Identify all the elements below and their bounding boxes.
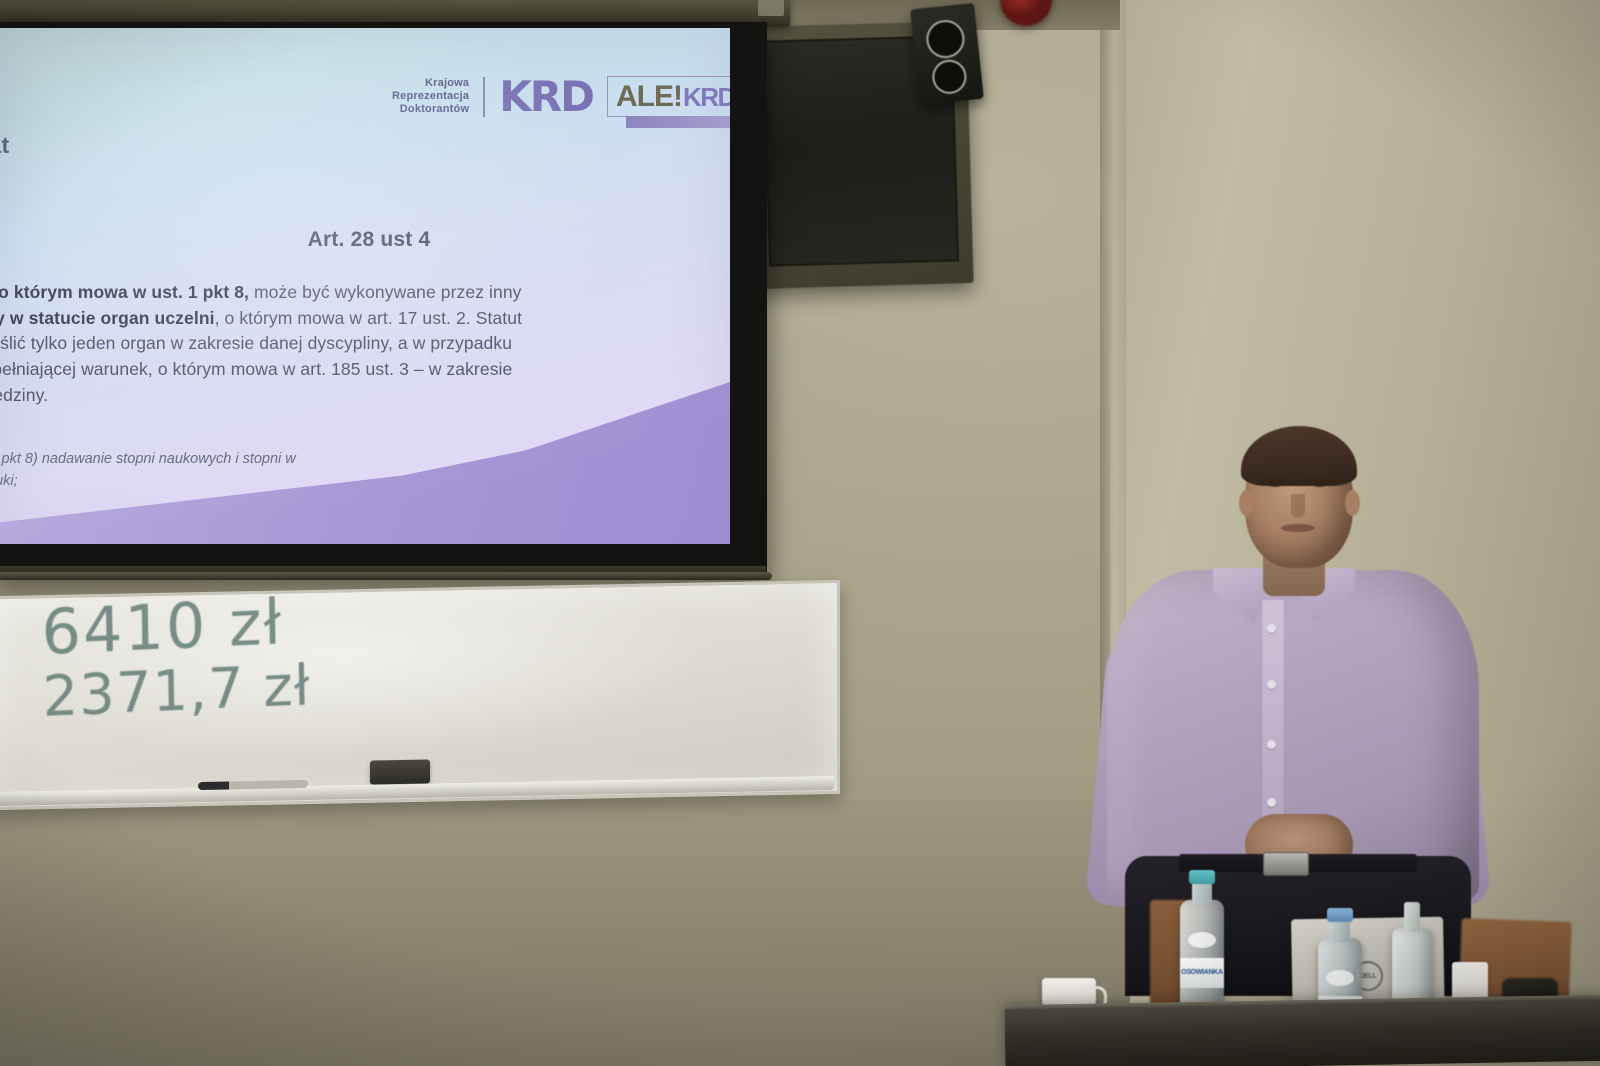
- ale-text: ALE!: [616, 80, 682, 114]
- krd-logo-icon: KRD: [499, 78, 593, 116]
- slide-body-line-4: zelni spełniającej warunek, o którym mow…: [0, 357, 730, 383]
- bottle-cap: [1189, 870, 1215, 884]
- presenter-mouth: [1281, 524, 1315, 532]
- handwriting-line-1: 6410 zł: [41, 590, 310, 664]
- presenter-eye-left: [1267, 480, 1284, 487]
- presenter-ear-right: [1345, 490, 1360, 516]
- projection-screen-frame: Krajowa Reprezentacja Doktorantów KRD AL…: [0, 22, 767, 574]
- lower-left-wall: [0, 800, 1130, 1066]
- shirt-button-4: [1267, 798, 1276, 807]
- speaker-cone-lower: [931, 58, 968, 95]
- slide-body-bold-1: danie, o którym mowa w ust. 1 pkt 8,: [0, 282, 249, 302]
- slide-body: danie, o którym mowa w ust. 1 pkt 8, moż…: [0, 280, 730, 409]
- slide-body-line-1: danie, o którym mowa w ust. 1 pkt 8, moż…: [0, 280, 730, 306]
- slide-footnote-line-1: 8 ust 1 pkt 8) nadawanie stopni naukowyc…: [0, 448, 714, 470]
- wall-speaker: [910, 3, 984, 105]
- krd-word-1: Krajowa: [392, 77, 469, 90]
- bottle-ring: [1188, 932, 1216, 948]
- bottle-cap-2: [1327, 908, 1353, 922]
- bottle-body: OSOWIANKA: [1180, 900, 1224, 1016]
- shirt-button-3: [1267, 740, 1276, 749]
- speaker-cone-upper: [925, 18, 967, 60]
- bottle-label-left: OSOWIANKA: [1180, 958, 1224, 988]
- presenter-eye-right: [1311, 480, 1328, 487]
- alekrd-logo: ALE! KRD: [607, 76, 730, 117]
- presenter-nose: [1291, 494, 1305, 518]
- slide-body-line-5: nej dziedziny.: [0, 383, 730, 409]
- slide-body-line-3: że określić tylko jeden organ w zakresie…: [0, 331, 730, 357]
- slide-body-rest-1: może być wykonywane przez inny: [249, 282, 522, 302]
- photo-scene: Krajowa Reprezentacja Doktorantów KRD AL…: [0, 0, 1600, 1066]
- whiteboard-eraser[interactable]: [370, 759, 430, 784]
- glass-bottle-neck: [1404, 902, 1420, 932]
- presenter-brow-left: [1265, 472, 1287, 476]
- front-table: [1005, 999, 1600, 1066]
- alekrd-underbar: [626, 116, 730, 128]
- shirt-button-2: [1267, 680, 1276, 689]
- water-bottle-left[interactable]: OSOWIANKA: [1180, 900, 1224, 1016]
- slide-footnote: 8 ust 1 pkt 8) nadawanie stopni naukowyc…: [0, 448, 714, 493]
- screen-weight-rod: [0, 572, 772, 580]
- whiteboard-handwriting: 6410 zł 2371,7 zł: [41, 590, 311, 726]
- presenter-ear-left: [1239, 490, 1254, 516]
- slide-body-rest-2: , o którym mowa w art. 17 ust. 2. Statut: [215, 308, 522, 328]
- presenter-hair: [1241, 426, 1357, 486]
- handwriting-line-2: 2371,7 zł: [42, 658, 311, 726]
- presenter-brow-right: [1308, 472, 1330, 476]
- slide-footnote-line-2: sie sztuki;: [0, 470, 714, 492]
- bottle-ring-2: [1326, 970, 1354, 986]
- presenter: [1095, 418, 1515, 978]
- alekrd-row: ALE! KRD: [616, 80, 730, 114]
- housing-cap: [758, 0, 784, 16]
- slide-title: Art. 28 ust 4: [0, 228, 730, 252]
- shirt-button-1: [1267, 624, 1276, 633]
- krd-wordmark: Krajowa Reprezentacja Doktorantów: [392, 77, 469, 116]
- ale-krd-text: KRD: [683, 82, 730, 113]
- slide-logo-group: Krajowa Reprezentacja Doktorantów KRD AL…: [392, 76, 730, 117]
- belt-buckle: [1263, 852, 1309, 876]
- slide-header: nat: [0, 132, 9, 159]
- logo-divider: [483, 77, 485, 117]
- krd-word-2: Reprezentacja: [392, 90, 469, 103]
- krd-word-3: Doktorantów: [392, 103, 469, 116]
- projection-screen-surface: Krajowa Reprezentacja Doktorantów KRD AL…: [0, 28, 730, 544]
- slide-body-line-2: reślony w statucie organ uczelni, o któr…: [0, 306, 730, 332]
- slide-body-bold-2: reślony w statucie organ uczelni: [0, 308, 215, 328]
